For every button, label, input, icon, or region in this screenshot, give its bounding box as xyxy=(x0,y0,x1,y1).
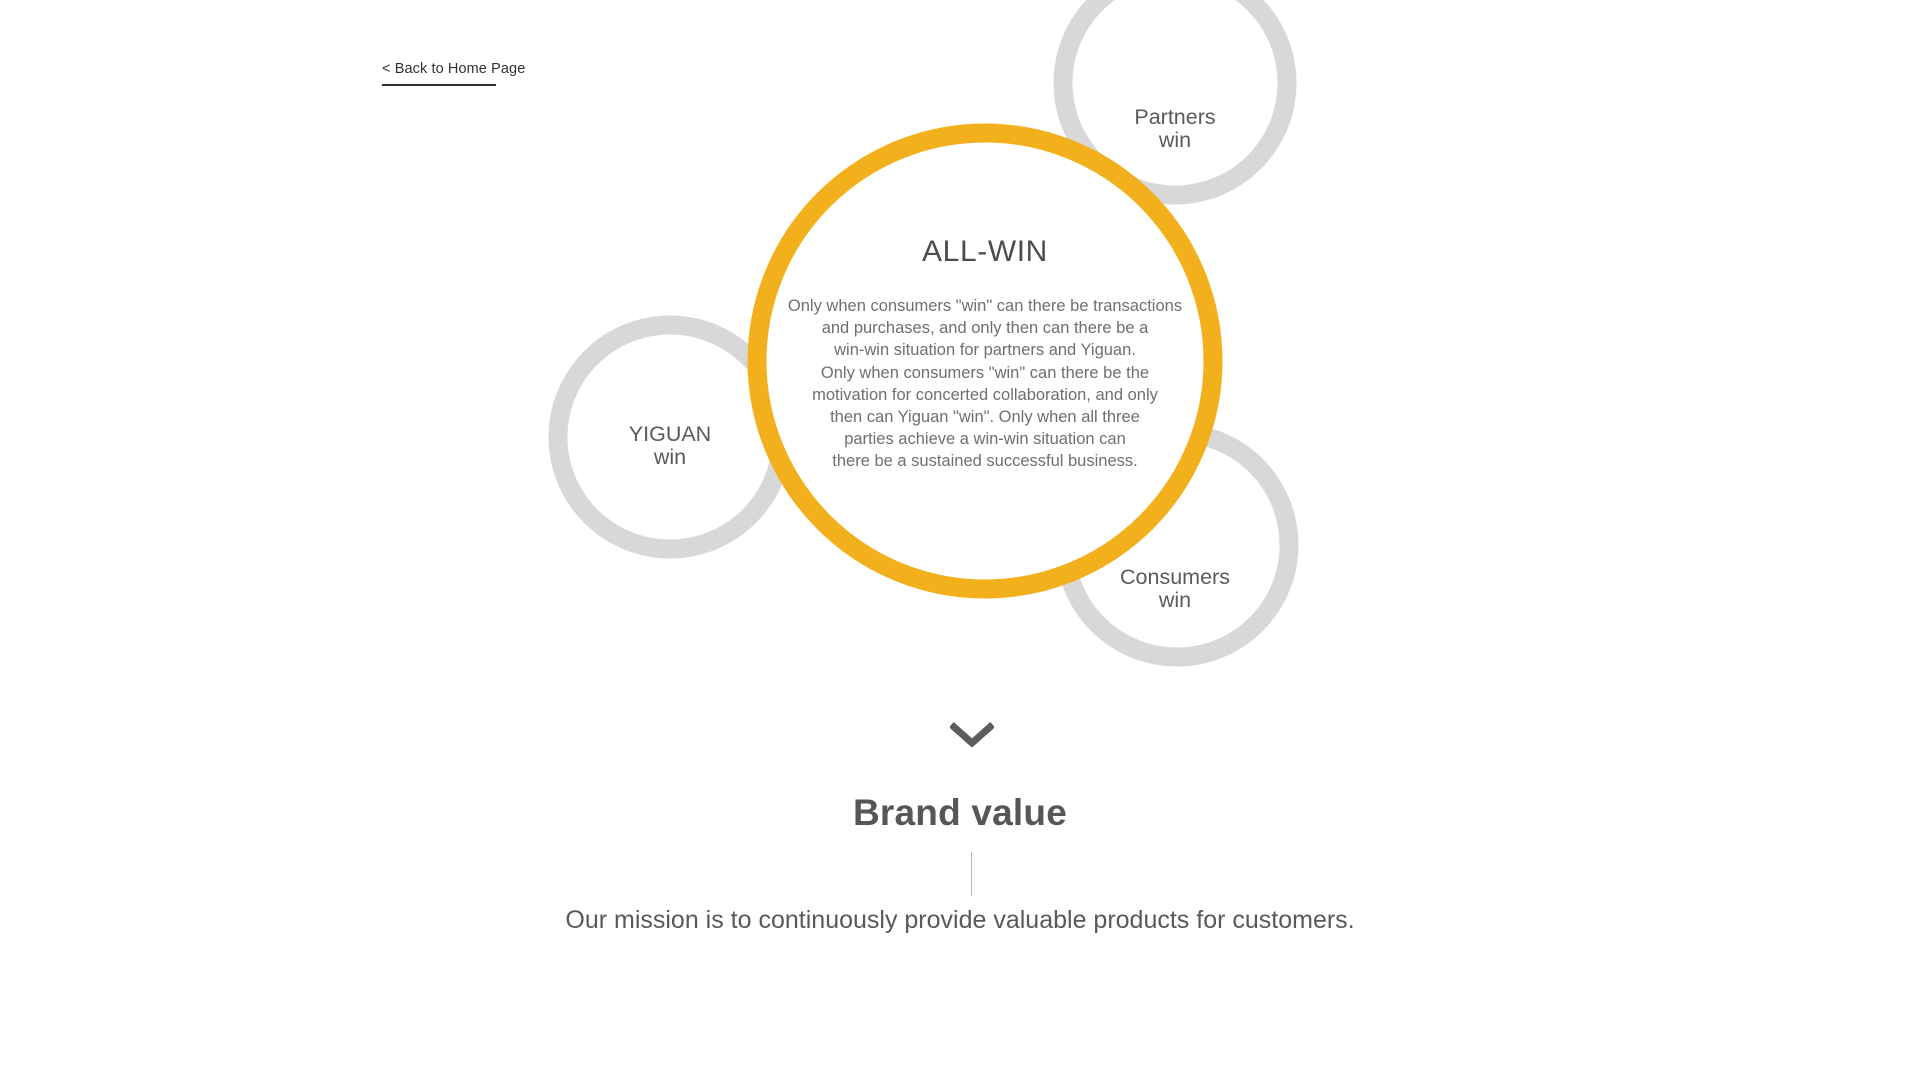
all-win-ring xyxy=(757,133,1213,589)
heading-divider xyxy=(971,852,972,896)
brand-value-heading: Brand value xyxy=(0,791,1920,835)
brand-value-tagline: Our mission is to continuously provide v… xyxy=(0,903,1920,937)
all-win-diagram: Partners win YIGUAN win Consumers win AL… xyxy=(0,0,1920,700)
chevron-down-glyph xyxy=(950,722,994,748)
page-root: < Back to Home Page Partners win YIGUAN … xyxy=(0,0,1920,1084)
diagram-rings-svg xyxy=(0,0,1920,700)
chevron-down-icon[interactable] xyxy=(950,722,994,748)
